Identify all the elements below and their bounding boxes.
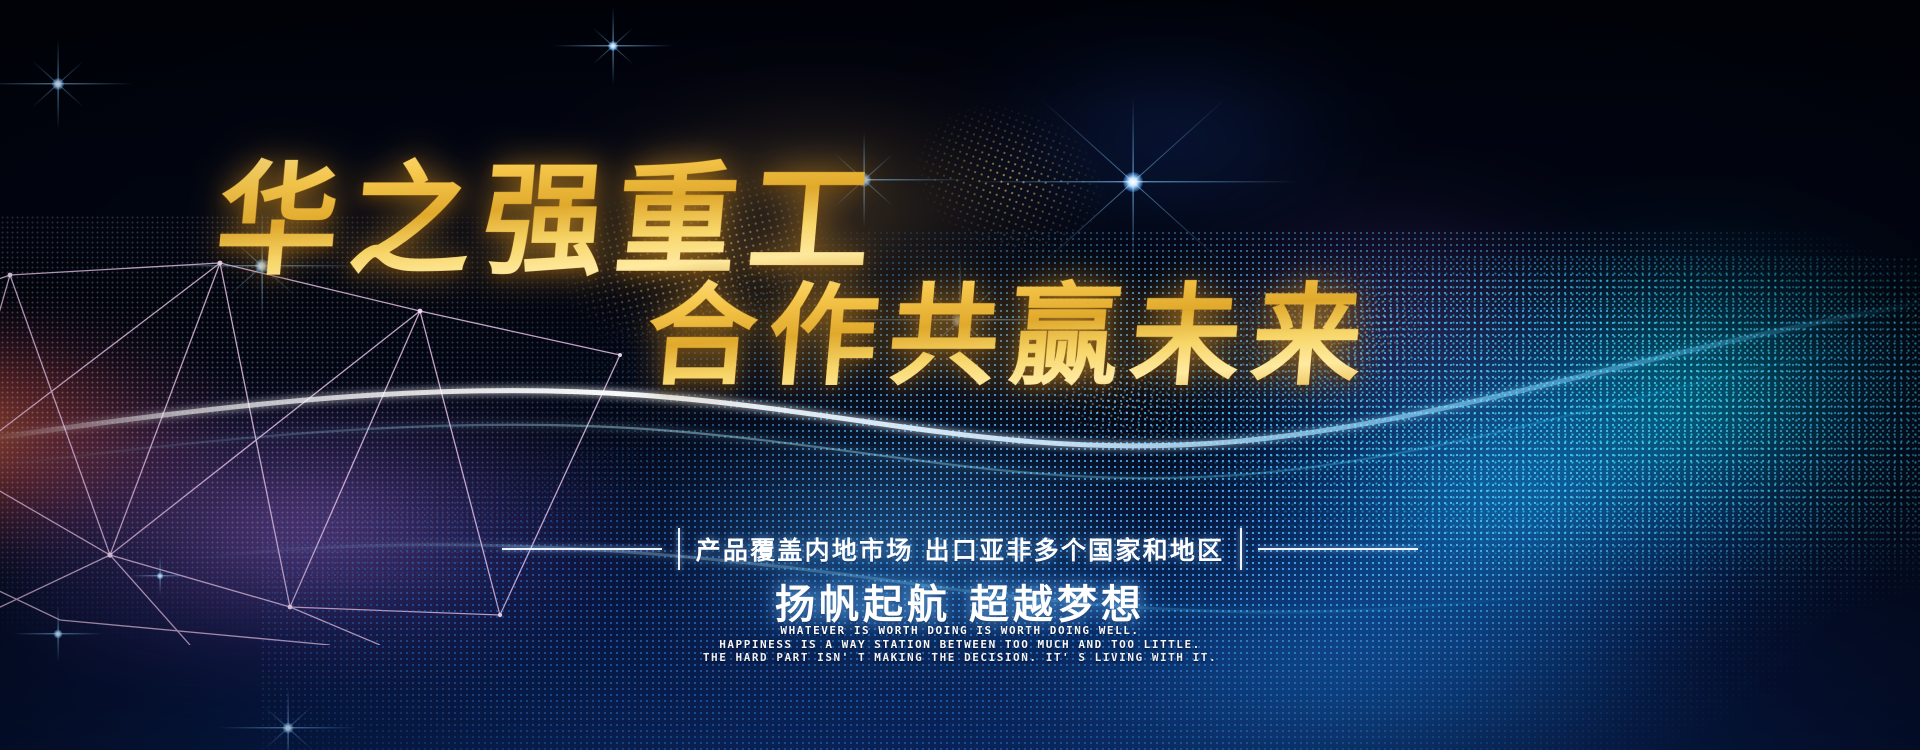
- quote-line-1: WHATEVER IS WORTH DOING IS WORTH DOING W…: [0, 624, 1920, 638]
- vertical-divider-left: [678, 528, 680, 570]
- blue-particle-wave-field: [260, 230, 1920, 750]
- english-quote-block: WHATEVER IS WORTH DOING IS WORTH DOING W…: [0, 624, 1920, 665]
- subtitle-text: 产品覆盖内地市场 出口亚非多个国家和地区: [696, 531, 1225, 567]
- wave-layer-lower: [260, 230, 1920, 750]
- promo-banner: 华之强重工 合作共赢未来 产品覆盖内地市场 出口亚非多个国家和地区 扬帆起航 超…: [0, 0, 1920, 750]
- subtitle-row: 产品覆盖内地市场 出口亚非多个国家和地区: [0, 528, 1920, 570]
- quote-line-3: THE HARD PART ISN' T MAKING THE DECISION…: [0, 651, 1920, 665]
- slogan-text: 扬帆起航 超越梦想: [0, 572, 1920, 630]
- horizontal-rule-left: [502, 548, 662, 550]
- blue-nebula-cloud: [960, 40, 1380, 240]
- vertical-divider-right: [1240, 528, 1242, 570]
- horizontal-rule-right: [1258, 548, 1418, 550]
- quote-line-2: HAPPINESS IS A WAY STATION BETWEEN TOO M…: [0, 638, 1920, 652]
